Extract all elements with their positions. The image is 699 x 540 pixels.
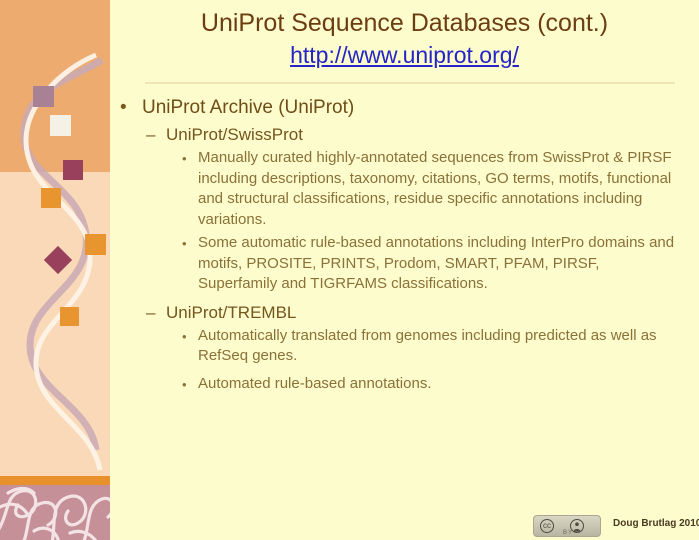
marker-cream-square: [50, 115, 71, 136]
bullet-level1-text: UniProt Archive (UniProt): [142, 95, 354, 121]
uniprot-link[interactable]: http://www.uniprot.org/: [290, 40, 519, 70]
title-block: UniProt Sequence Databases (cont.) http:…: [110, 8, 699, 70]
section-heading-trembl: UniProt/TREMBL: [166, 301, 296, 325]
section-heading-swissprot: UniProt/SwissProt: [166, 123, 303, 147]
decorative-sidebar: [0, 0, 110, 540]
bullet-level3-text: Automatically translated from genomes in…: [198, 326, 676, 367]
bullet-level3: • Automatically translated from genomes …: [182, 326, 699, 367]
bullet-level3: • Manually curated highly-annotated sequ…: [182, 148, 699, 230]
bullet-dot-icon: •: [120, 95, 142, 121]
bullet-level3-text: Some automatic rule-based annotations in…: [198, 233, 676, 295]
marker-orange-square-bottom: [60, 307, 79, 326]
cc-by-label: BY: [534, 530, 602, 536]
slide-content: UniProt Sequence Databases (cont.) http:…: [110, 0, 699, 540]
bullet-list: • UniProt Archive (UniProt) – UniProt/Sw…: [110, 95, 699, 398]
bullet-level3-text: Automated rule-based annotations.: [198, 374, 432, 395]
bullet-level3: • Some automatic rule-based annotations …: [182, 233, 699, 295]
author-credit: Doug Brutlag 2010: [613, 518, 699, 529]
bullet-dot-icon: •: [182, 148, 198, 230]
bullet-level3: • Automated rule-based annotations.: [182, 374, 699, 395]
creative-commons-badge[interactable]: cc BY: [533, 515, 601, 537]
bullet-level2-swissprot: – UniProt/SwissProt: [146, 123, 699, 147]
title-divider: [145, 82, 675, 84]
page-title: UniProt Sequence Databases (cont.): [110, 8, 699, 38]
sidebar-floral-panel: [0, 485, 110, 540]
bullet-dot-icon: •: [182, 326, 198, 367]
marker-maroon-square: [63, 160, 83, 180]
bullet-dash-icon: –: [146, 301, 166, 325]
bullet-level3-text: Manually curated highly-annotated sequen…: [198, 148, 676, 230]
floral-pattern: [0, 485, 110, 540]
slide-canvas: UniProt Sequence Databases (cont.) http:…: [0, 0, 699, 540]
bullet-level2-trembl: – UniProt/TREMBL: [146, 301, 699, 325]
bullet-dot-icon: •: [182, 233, 198, 295]
bullet-dot-icon: •: [182, 374, 198, 395]
marker-orange-square-lower: [85, 234, 106, 255]
sidebar-accent-bar: [0, 476, 110, 485]
bullet-dash-icon: –: [146, 123, 166, 147]
marker-orange-square-upper: [41, 188, 61, 208]
marker-mauve-square: [33, 86, 54, 107]
bullet-level1: • UniProt Archive (UniProt): [120, 95, 699, 121]
